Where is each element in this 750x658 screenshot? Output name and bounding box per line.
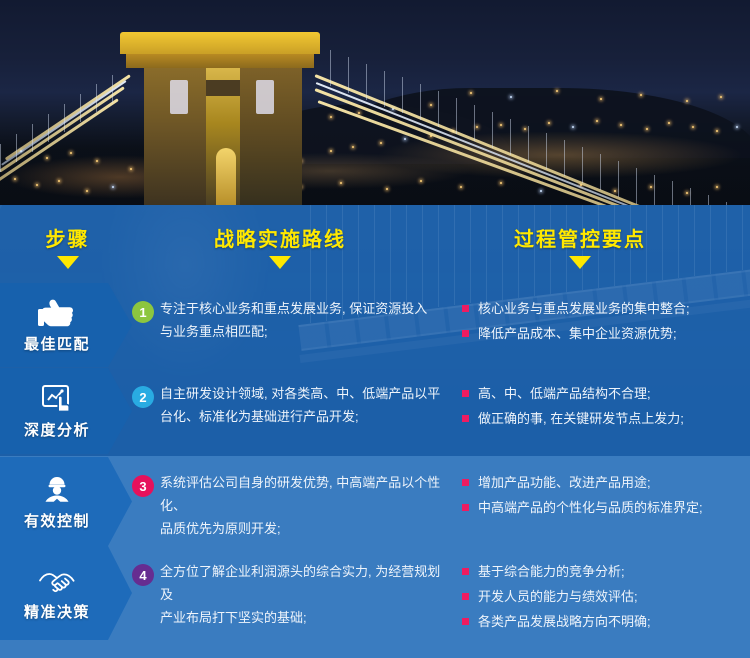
process-control-bullets: 增加产品功能、改进产品用途; 中高端产品的个性化与品质的标准界定; xyxy=(462,471,747,521)
strategy-route-text: 全方位了解企业利润源头的综合实力, 为经营规划及 产业布局打下坚实的基础; xyxy=(160,560,450,629)
step-row: 精准决策 4 全方位了解企业利润源头的综合实力, 为经营规划及 产业布局打下坚实… xyxy=(0,546,750,640)
step-chip[interactable]: 有效控制 xyxy=(0,457,132,546)
bullet-item: 高、中、低端产品结构不合理; xyxy=(462,382,747,405)
step-number: 1 xyxy=(139,306,146,319)
bullet-item: 各类产品发展战略方向不明确; xyxy=(462,610,747,633)
chart-analysis-cursor-icon xyxy=(37,382,77,416)
step-chip-label: 精准决策 xyxy=(24,601,90,622)
bullet-item: 做正确的事, 在关键研发节点上发力; xyxy=(462,407,747,430)
step-number-badge: 1 xyxy=(132,301,154,323)
bullet-item: 增加产品功能、改进产品用途; xyxy=(462,471,747,494)
strategy-route-text: 系统评估公司自身的研发优势, 中高端产品以个性化、 品质优先为原则开发; xyxy=(160,471,450,540)
step-number-badge: 4 xyxy=(132,564,154,586)
step-chip-label: 有效控制 xyxy=(24,510,90,531)
step-number: 3 xyxy=(139,480,146,493)
strategy-line: 专注于核心业务和重点发展业务, 保证资源投入 xyxy=(160,297,450,320)
bullet-item: 开发人员的能力与绩效评估; xyxy=(462,585,747,608)
strategy-line: 品质优先为原则开发; xyxy=(160,517,450,540)
step-row: 深度分析 2 自主研发设计领域, 对各类高、中、低端产品以平 台化、标准化为基础… xyxy=(0,368,750,454)
step-chip[interactable]: 深度分析 xyxy=(0,368,132,454)
bullet-text: 降低产品成本、集中企业资源优势; xyxy=(478,322,747,345)
bullet-item: 降低产品成本、集中企业资源优势; xyxy=(462,322,747,345)
step-chip[interactable]: 最佳匹配 xyxy=(0,283,132,367)
bullet-item: 中高端产品的个性化与品质的标准界定; xyxy=(462,496,747,519)
column-headers: 步骤 战略实施路线 过程管控要点 xyxy=(0,205,750,277)
step-row: 最佳匹配 1 专注于核心业务和重点发展业务, 保证资源投入 与业务重点相匹配; … xyxy=(0,283,750,367)
worker-person-icon xyxy=(37,473,77,507)
bridge-tower xyxy=(120,32,320,205)
banner-bridge-photo xyxy=(0,0,750,205)
step-row: 有效控制 3 系统评估公司自身的研发优势, 中高端产品以个性化、 品质优先为原则… xyxy=(0,457,750,546)
bullet-text: 做正确的事, 在关键研发节点上发力; xyxy=(478,407,747,430)
strategy-line: 全方位了解企业利润源头的综合实力, 为经营规划及 xyxy=(160,560,450,606)
step-number: 4 xyxy=(139,569,146,582)
bullet-square-icon xyxy=(462,415,469,422)
bullet-square-icon xyxy=(462,330,469,337)
bullet-text: 开发人员的能力与绩效评估; xyxy=(478,585,747,608)
bullet-text: 中高端产品的个性化与品质的标准界定; xyxy=(478,496,747,519)
handshake-icon xyxy=(37,564,77,598)
pointing-hand-icon xyxy=(37,296,77,330)
strategy-route-text: 专注于核心业务和重点发展业务, 保证资源投入 与业务重点相匹配; xyxy=(160,297,450,343)
bullet-text: 高、中、低端产品结构不合理; xyxy=(478,382,747,405)
caret-down-icon xyxy=(569,256,591,269)
step-chip[interactable]: 精准决策 xyxy=(0,546,132,640)
header-process-control: 过程管控要点 xyxy=(440,223,720,269)
step-number-badge: 3 xyxy=(132,475,154,497)
bullet-item: 基于综合能力的竞争分析; xyxy=(462,560,747,583)
bullet-text: 核心业务与重点发展业务的集中整合; xyxy=(478,297,747,320)
strategy-route-text: 自主研发设计领域, 对各类高、中、低端产品以平 台化、标准化为基础进行产品开发; xyxy=(160,382,450,428)
step-number-badge: 2 xyxy=(132,386,154,408)
header-process-control-label: 过程管控要点 xyxy=(440,223,720,252)
step-chip-label: 最佳匹配 xyxy=(24,333,90,354)
strategy-line: 与业务重点相匹配; xyxy=(160,320,450,343)
bullet-text: 基于综合能力的竞争分析; xyxy=(478,560,747,583)
bullet-text: 增加产品功能、改进产品用途; xyxy=(478,471,747,494)
header-strategy-route: 战略实施路线 xyxy=(140,223,420,269)
bullet-square-icon xyxy=(462,390,469,397)
strategy-line: 台化、标准化为基础进行产品开发; xyxy=(160,405,450,428)
bullet-square-icon xyxy=(462,504,469,511)
process-control-bullets: 高、中、低端产品结构不合理; 做正确的事, 在关键研发节点上发力; xyxy=(462,382,747,432)
strategy-line: 系统评估公司自身的研发优势, 中高端产品以个性化、 xyxy=(160,471,450,517)
process-control-bullets: 核心业务与重点发展业务的集中整合; 降低产品成本、集中企业资源优势; xyxy=(462,297,747,347)
header-steps-label: 步骤 xyxy=(0,223,135,252)
bullet-square-icon xyxy=(462,305,469,312)
bullet-square-icon xyxy=(462,618,469,625)
process-control-bullets: 基于综合能力的竞争分析; 开发人员的能力与绩效评估; 各类产品发展战略方向不明确… xyxy=(462,560,747,635)
caret-down-icon xyxy=(269,256,291,269)
header-steps: 步骤 xyxy=(0,223,135,269)
infographic-page: 步骤 战略实施路线 过程管控要点 最佳匹配 xyxy=(0,0,750,658)
strategy-line: 自主研发设计领域, 对各类高、中、低端产品以平 xyxy=(160,382,450,405)
bullet-text: 各类产品发展战略方向不明确; xyxy=(478,610,747,633)
step-chip-label: 深度分析 xyxy=(24,419,90,440)
bullet-item: 核心业务与重点发展业务的集中整合; xyxy=(462,297,747,320)
bullet-square-icon xyxy=(462,568,469,575)
strategy-line: 产业布局打下坚实的基础; xyxy=(160,606,450,629)
bullet-square-icon xyxy=(462,479,469,486)
bullet-square-icon xyxy=(462,593,469,600)
step-number: 2 xyxy=(139,391,146,404)
header-strategy-route-label: 战略实施路线 xyxy=(140,223,420,252)
caret-down-icon xyxy=(57,256,79,269)
content-panel: 步骤 战略实施路线 过程管控要点 最佳匹配 xyxy=(0,205,750,658)
